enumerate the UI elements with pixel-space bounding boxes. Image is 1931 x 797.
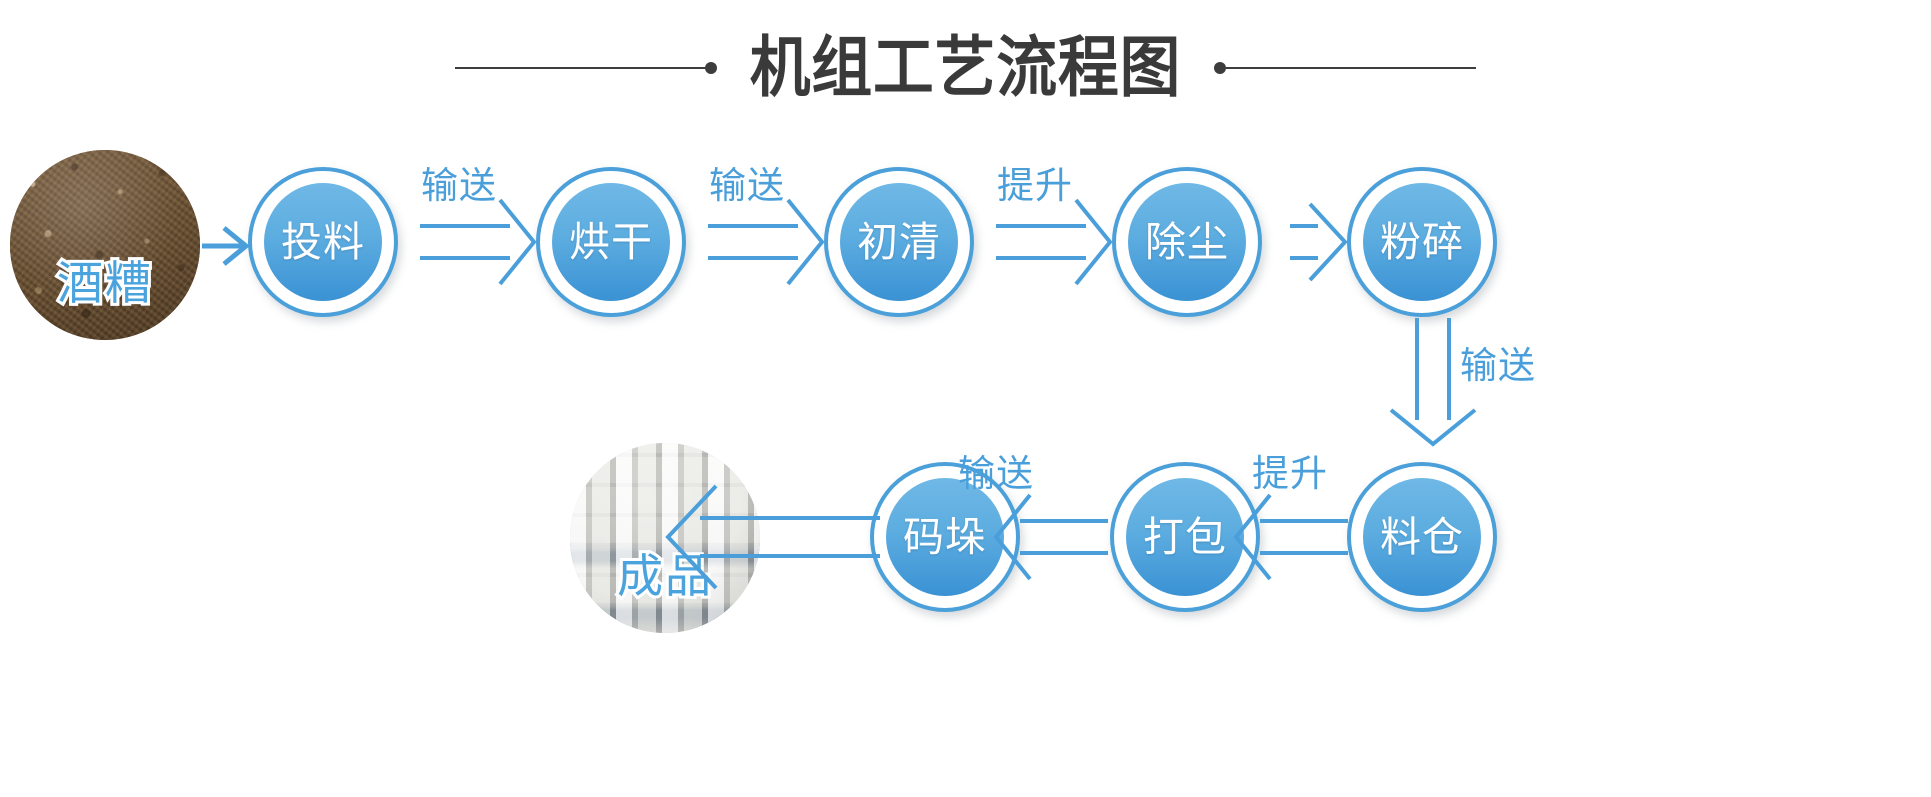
connector-label-packing-to-stacking: 输送 [958, 455, 1034, 492]
connector-cleaning-to-dedust [996, 200, 1110, 284]
process-flow-diagram: 机组工艺流程图 [0, 0, 1931, 797]
connector-label-feeding-to-drying: 输送 [421, 167, 497, 204]
connector-label-drying-to-cleaning: 输送 [709, 167, 785, 204]
connector-feeding-to-drying [420, 200, 534, 284]
connector-silo-to-packing [1236, 495, 1348, 579]
connector-layer [0, 0, 1931, 797]
connector-dedust-to-crushing [1290, 204, 1345, 280]
connector-drying-to-cleaning [708, 200, 822, 284]
connector-raw-to-feeding [202, 228, 246, 264]
connector-stacking-to-finished [668, 486, 880, 588]
connector-packing-to-stacking [996, 495, 1108, 579]
connector-label-silo-to-packing: 提升 [1252, 455, 1328, 492]
connector-label-crushing-to-silo: 输送 [1460, 347, 1536, 384]
connector-label-cleaning-to-dedust: 提升 [997, 167, 1073, 204]
